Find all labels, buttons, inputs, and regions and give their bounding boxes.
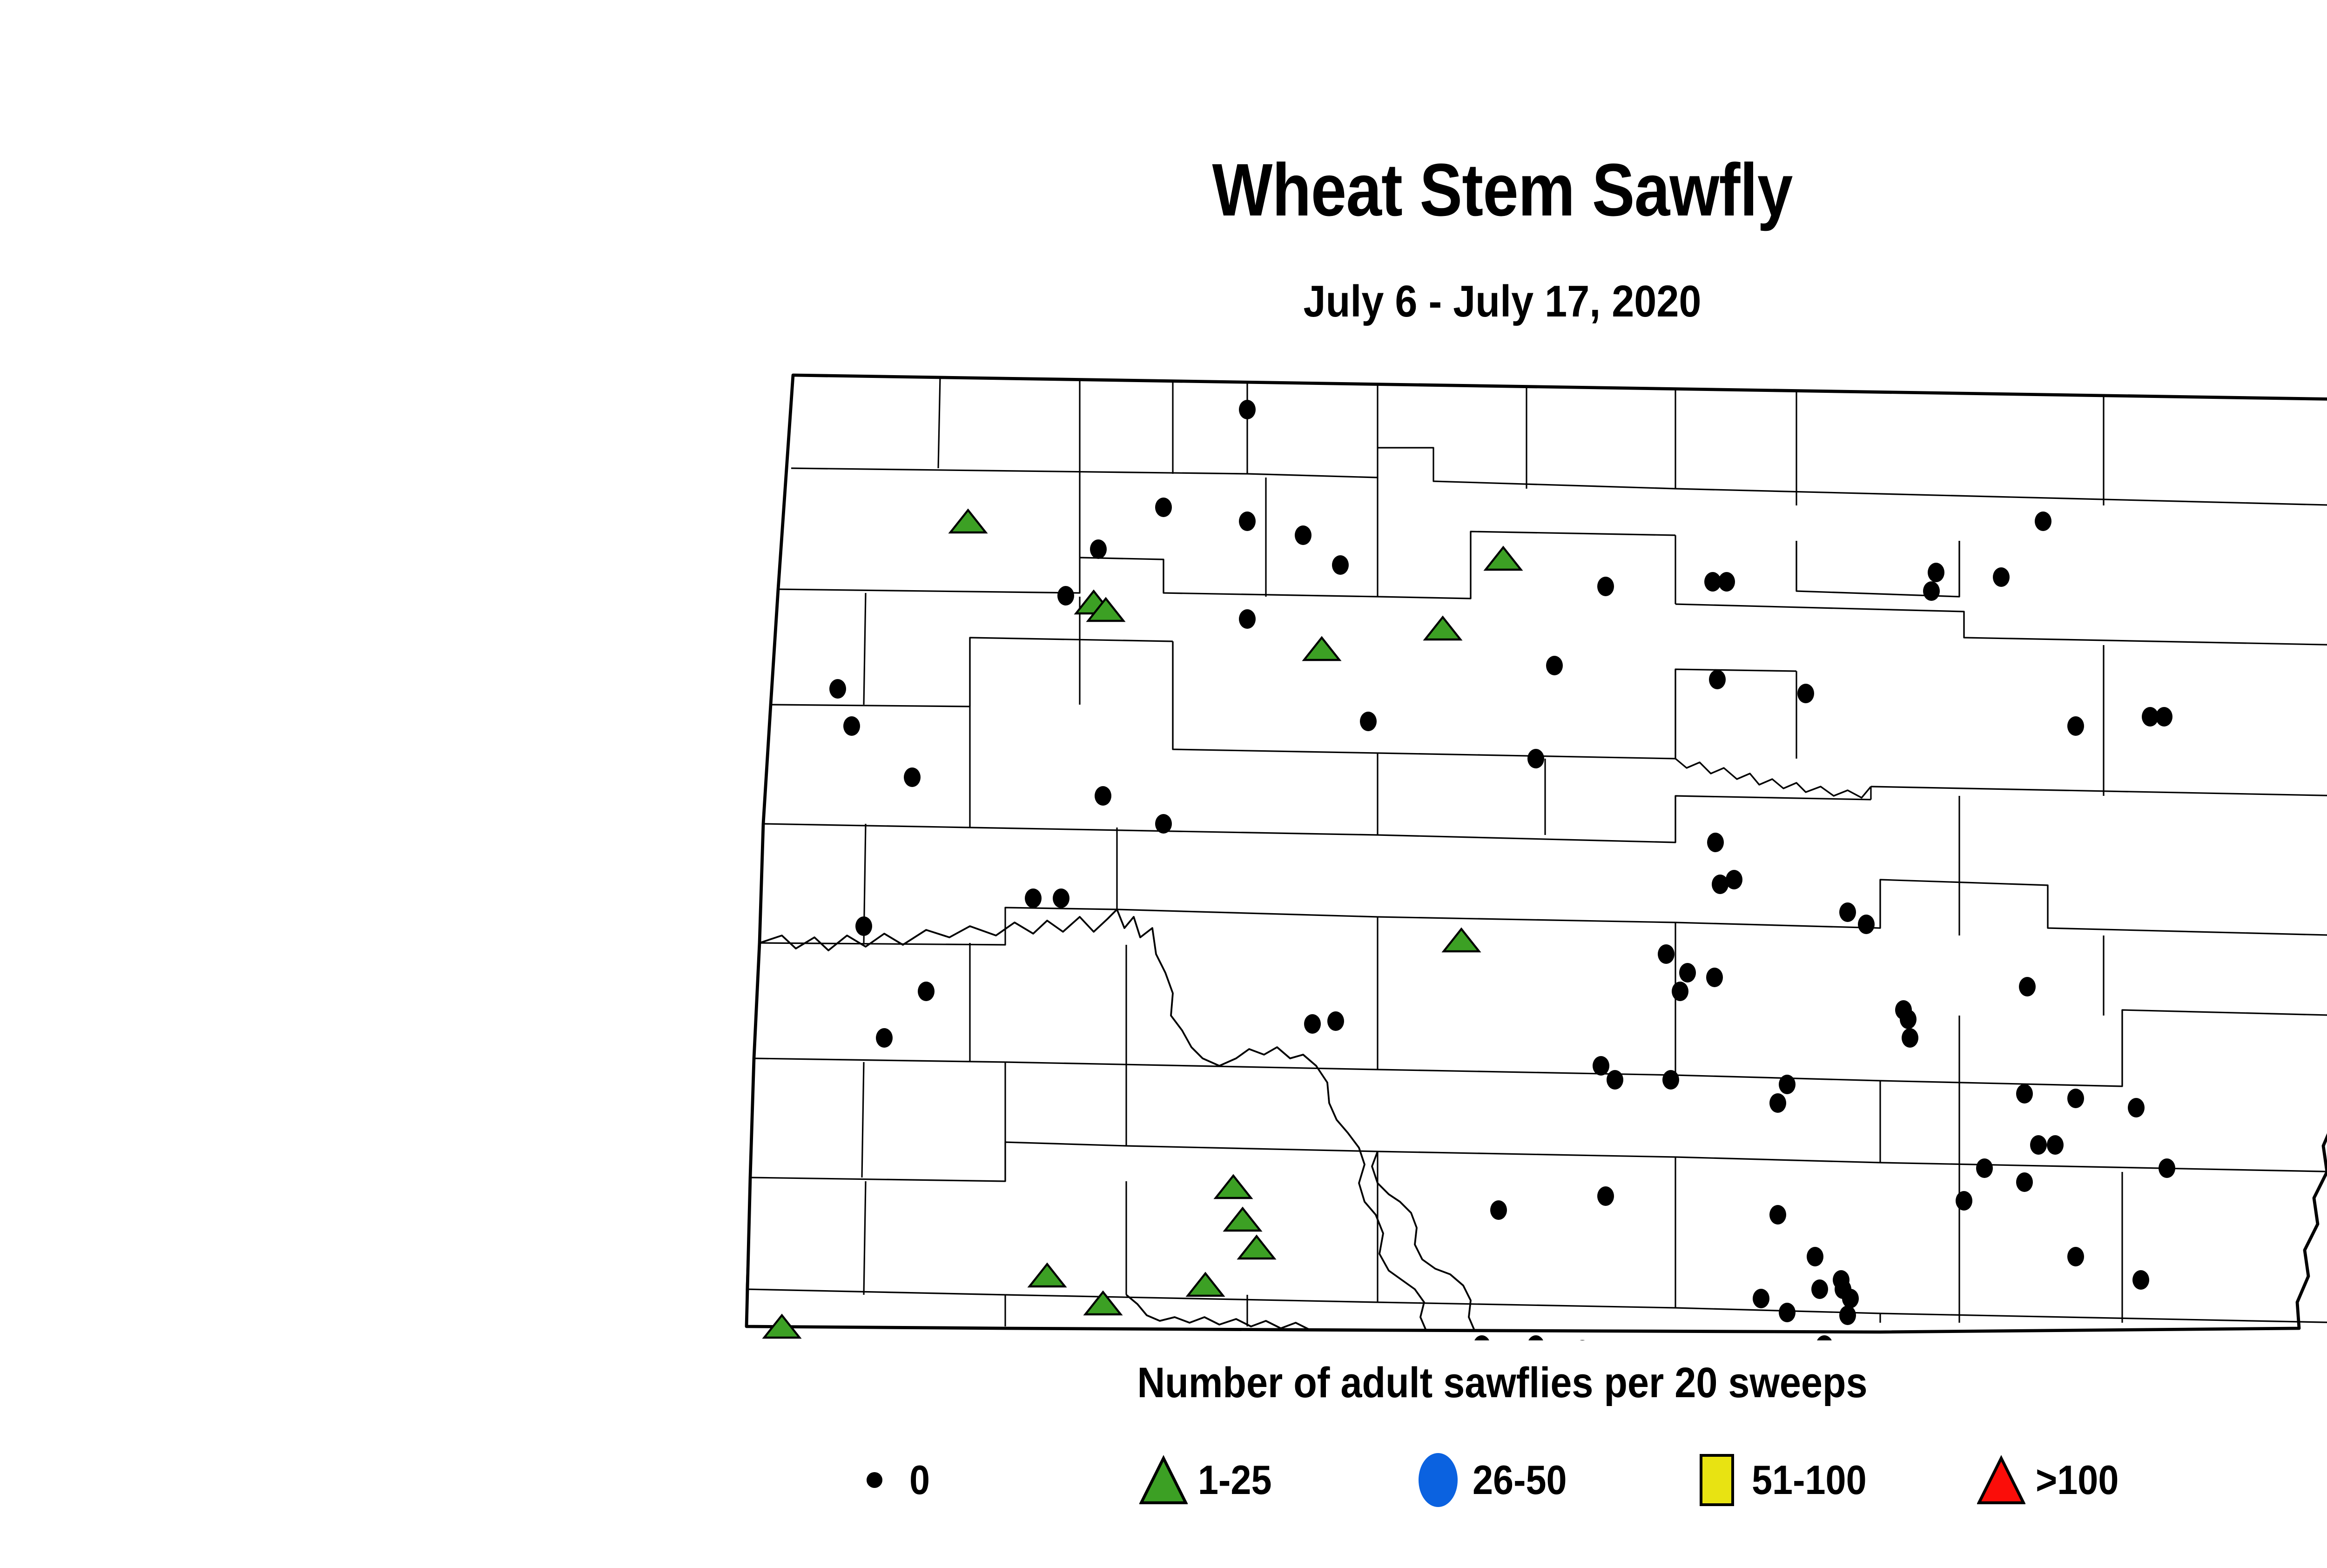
map-marker-zero <box>1090 539 1107 559</box>
legend-label-26-50: 26-50 <box>1473 1460 1567 1501</box>
map-marker-zero <box>1360 712 1377 731</box>
legend-label-51-100: 51-100 <box>1752 1460 1867 1501</box>
map-marker-1-25 <box>1188 1273 1223 1296</box>
map-marker-zero <box>1025 888 1042 908</box>
map-marker-zero <box>1816 1335 1833 1340</box>
map-marker-zero <box>1295 525 1311 545</box>
legend-item-0[interactable]: 0 <box>847 1443 1136 1517</box>
map-marker-zero <box>1057 586 1074 606</box>
page-title: Wheat Stem Sawfly <box>210 153 2327 227</box>
map-marker-1-25 <box>1444 929 1479 951</box>
legend-label-0: 0 <box>909 1460 930 1501</box>
map-marker-1-25 <box>1029 1264 1065 1286</box>
map-marker-zero <box>829 679 846 699</box>
map-marker-zero <box>1574 1340 1591 1340</box>
map-marker-zero <box>1928 563 1944 582</box>
county-boundaries <box>747 375 2327 1326</box>
map-marker-zero <box>1833 1270 1849 1290</box>
map-marker-zero <box>1858 915 1875 934</box>
legend-item-over-100[interactable]: >100 <box>1973 1443 2220 1517</box>
map-marker-zero <box>2067 716 2084 736</box>
triangle-red-svg <box>1977 1455 2025 1506</box>
map-marker-zero <box>1155 814 1172 834</box>
map-marker-zero <box>1527 749 1544 768</box>
map-marker-zero <box>1662 1070 1679 1090</box>
sawfly-map-page: Wheat Stem Sawfly July 6 - July 17, 2020 <box>0 0 2327 1568</box>
map-marker-zero <box>918 982 935 1001</box>
green-triangle-icon <box>1136 1447 1191 1513</box>
map-marker-zero <box>1769 1205 1786 1225</box>
map-marker-1-25 <box>950 510 986 532</box>
page-subtitle: July 6 - July 17, 2020 <box>150 279 2327 324</box>
map-marker-zero <box>1527 1335 1544 1340</box>
map-marker-zero <box>1779 1303 1796 1322</box>
map-marker-zero <box>1993 567 2010 587</box>
legend-heading: Number of adult sawflies per 20 sweeps <box>150 1361 2327 1404</box>
map-marker-1-25 <box>1425 617 1460 639</box>
map-marker-zero <box>2030 1135 2047 1155</box>
north-dakota-map <box>726 358 2327 1340</box>
map-marker-zero <box>2047 1135 2064 1155</box>
map-marker-zero <box>2159 1158 2175 1178</box>
map-marker-zero <box>1900 1009 1917 1029</box>
legend-item-26-50[interactable]: 26-50 <box>1410 1443 1689 1517</box>
legend-item-51-100[interactable]: 51-100 <box>1689 1443 1973 1517</box>
state-outline <box>747 375 2327 1332</box>
map-marker-zero <box>2132 1270 2149 1290</box>
map-marker-zero <box>1053 888 1069 908</box>
map-marker-zero <box>1327 1011 1344 1031</box>
map-marker-zero <box>1923 581 1940 601</box>
map-marker-zero <box>1304 1014 1321 1034</box>
devils-lake <box>1675 759 1871 798</box>
map-marker-zero <box>876 1028 893 1048</box>
map-marker-1-25 <box>1486 547 1521 570</box>
zero-markers <box>829 400 2327 1340</box>
map-marker-1-25 <box>1216 1176 1251 1198</box>
missouri-river <box>760 909 1426 1330</box>
map-marker-zero <box>904 767 921 787</box>
yellow-square-icon <box>1689 1447 1745 1513</box>
map-marker-zero <box>2016 1084 2033 1104</box>
map-marker-zero <box>1726 870 1742 889</box>
red-triangle-icon <box>1973 1447 2029 1513</box>
map-svg <box>726 358 2327 1340</box>
map-marker-zero <box>1679 963 1696 983</box>
map-marker-zero <box>1597 577 1614 596</box>
map-marker-zero <box>2067 1089 2084 1108</box>
map-marker-zero <box>2067 1247 2084 1266</box>
map-marker-zero <box>1607 1070 1623 1090</box>
map-marker-zero <box>1332 555 1349 575</box>
map-marker-zero <box>2016 1172 2033 1192</box>
map-marker-zero <box>1707 833 1724 852</box>
map-marker-zero <box>1706 968 1723 987</box>
map-marker-zero <box>2019 977 2036 996</box>
map-marker-zero <box>1239 511 1256 531</box>
map-marker-zero <box>1239 400 1256 419</box>
map-marker-zero <box>1811 1279 1828 1299</box>
map-marker-1-25 <box>1239 1236 1274 1258</box>
map-marker-zero <box>1095 786 1111 806</box>
map-marker-zero <box>1239 609 1256 629</box>
map-marker-zero <box>1839 1306 1856 1325</box>
map-marker-zero <box>1718 572 1735 592</box>
dot-icon <box>847 1447 903 1513</box>
legend-label-over-100: >100 <box>2036 1460 2119 1501</box>
legend-label-1-25: 1-25 <box>1198 1460 1272 1501</box>
triangle-green-svg <box>1139 1455 1188 1506</box>
map-marker-zero <box>1976 1158 1993 1178</box>
legend-item-1-25[interactable]: 1-25 <box>1136 1443 1410 1517</box>
map-marker-zero <box>1473 1335 1490 1340</box>
map-marker-zero <box>1956 1191 1972 1211</box>
map-marker-zero <box>1842 1289 1859 1308</box>
green-markers <box>764 510 2163 1340</box>
map-marker-zero <box>1490 1200 1507 1220</box>
map-marker-1-25 <box>1225 1208 1260 1231</box>
map-marker-zero <box>2035 511 2051 531</box>
map-marker-zero <box>1672 982 1688 1001</box>
map-marker-1-25 <box>1304 638 1339 660</box>
map-marker-zero <box>1807 1247 1823 1266</box>
legend: 0 1-25 26-50 51-100 <box>847 1443 2220 1517</box>
map-marker-zero <box>1769 1093 1786 1113</box>
map-marker-zero <box>1593 1056 1609 1076</box>
map-marker-zero <box>2156 707 2172 727</box>
map-marker-zero <box>1797 684 1814 703</box>
map-marker-zero <box>1155 498 1172 517</box>
map-marker-zero <box>1839 902 1856 922</box>
map-marker-zero <box>843 716 860 736</box>
map-marker-1-25 <box>1085 1292 1121 1314</box>
map-marker-zero <box>1902 1028 1918 1048</box>
map-marker-zero <box>855 916 872 936</box>
blue-circle-icon <box>1410 1447 1466 1513</box>
map-marker-zero <box>1597 1186 1614 1206</box>
map-marker-zero <box>1779 1075 1796 1094</box>
map-marker-zero <box>1658 944 1675 964</box>
map-marker-zero <box>1709 670 1726 689</box>
map-marker-zero <box>2128 1098 2145 1117</box>
map-marker-zero <box>1753 1289 1769 1308</box>
map-marker-zero <box>1546 656 1563 675</box>
